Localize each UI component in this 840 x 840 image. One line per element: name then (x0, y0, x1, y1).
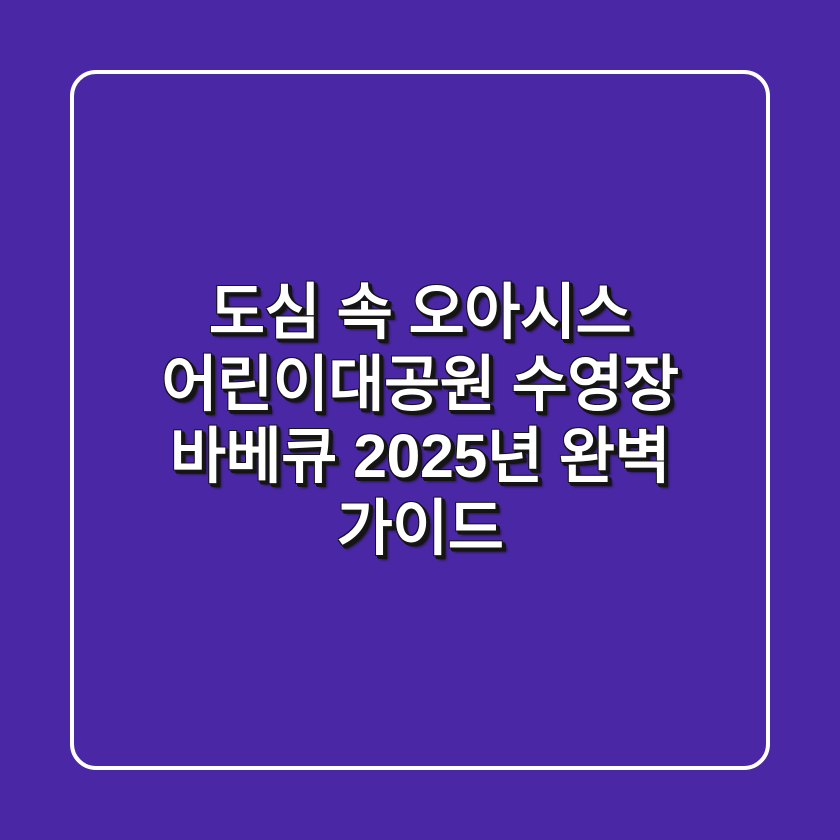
page-title: 도심 속 오아시스 어린이대공원 수영장 바베큐 2025년 완벽 가이드 (86, 276, 754, 564)
headline-block: 도심 속 오아시스 어린이대공원 수영장 바베큐 2025년 완벽 가이드 (0, 0, 840, 840)
thumbnail-canvas: 도심 속 오아시스 어린이대공원 수영장 바베큐 2025년 완벽 가이드 (0, 0, 840, 840)
